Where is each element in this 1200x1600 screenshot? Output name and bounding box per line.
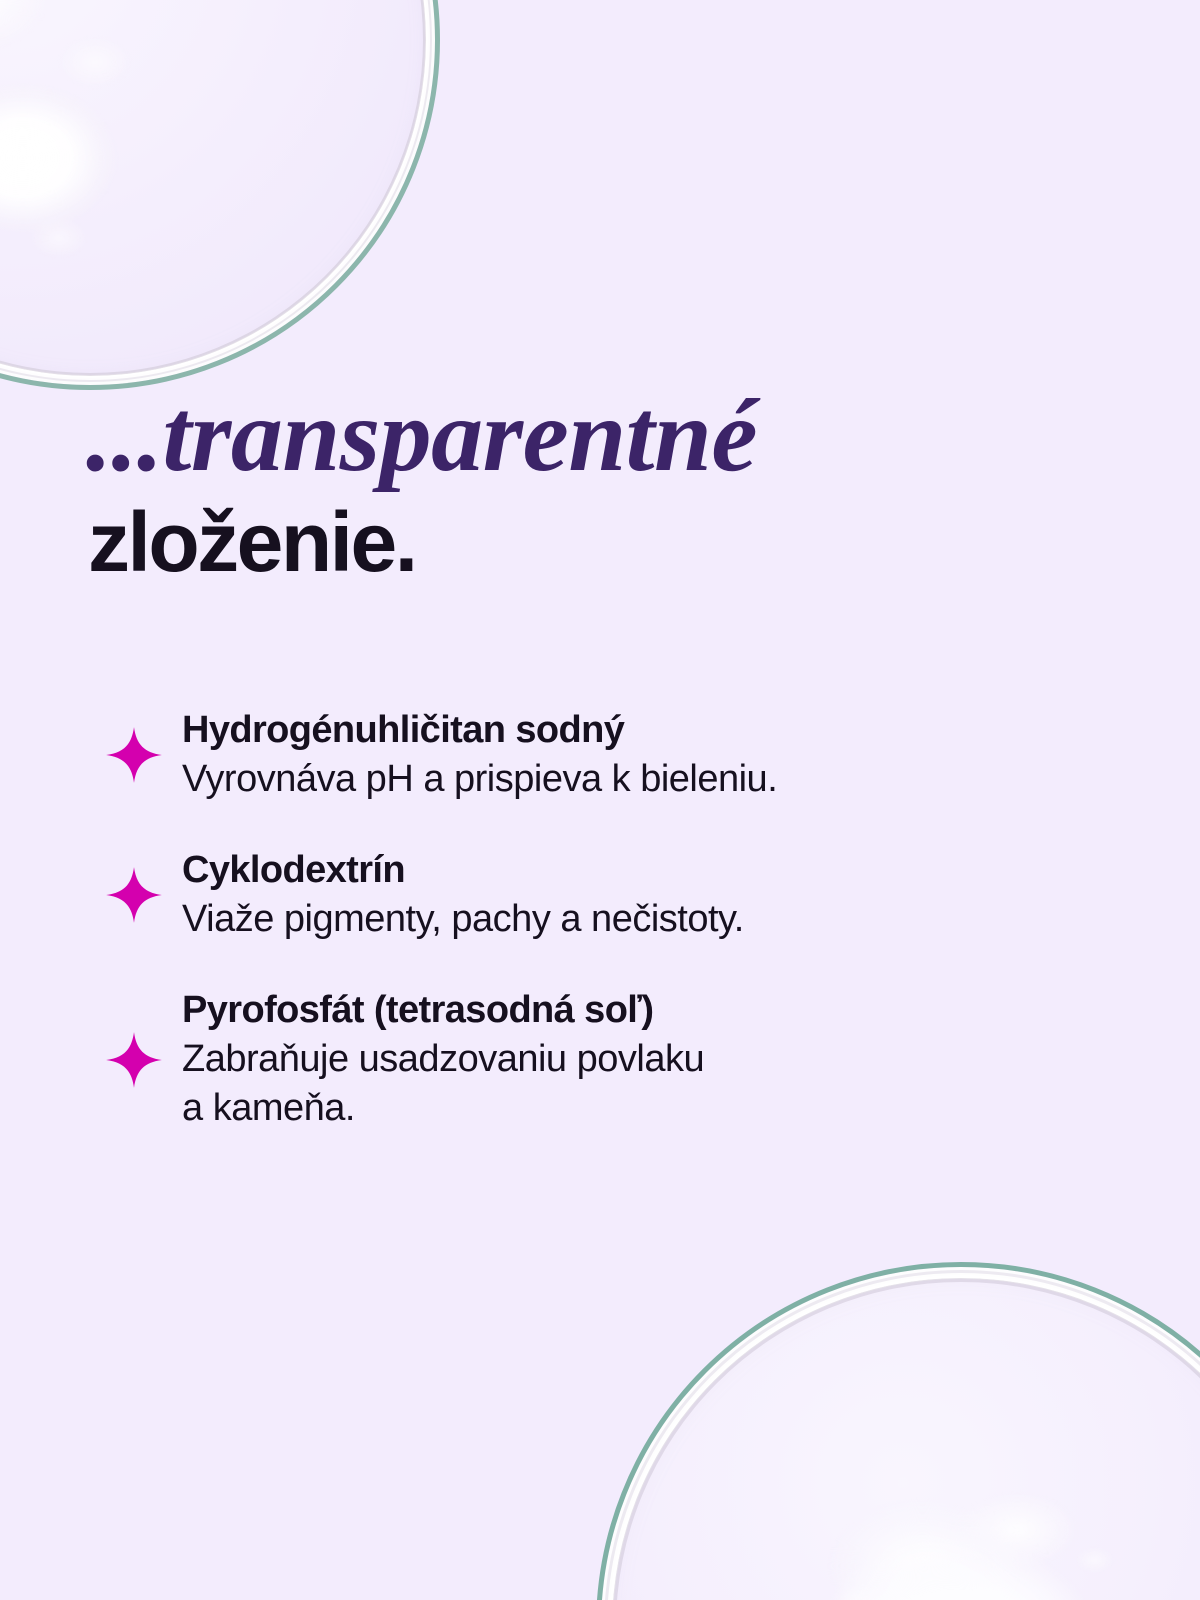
list-item-text: Pyrofosfát (tetrasodná soľ) Zabraňuje us… <box>182 986 1086 1133</box>
list-item: Cyklodextrín Viaže pigmenty, pachy a neč… <box>86 846 1086 944</box>
list-item-text: Hydrogénuhličitan sodný Vyrovnáva pH a p… <box>182 706 1086 804</box>
ingredient-description: Vyrovnáva pH a prispieva k bieleniu. <box>182 755 1086 804</box>
white-powder-top-left <box>0 0 210 310</box>
sparkle-star-icon <box>86 866 182 924</box>
petri-dish-top-left <box>0 0 440 390</box>
ingredient-poster: ...transparentné zloženie. Hydrogénuhlič… <box>0 0 1200 1600</box>
ingredient-title: Hydrogénuhličitan sodný <box>182 706 1086 755</box>
list-item: Hydrogénuhličitan sodný Vyrovnáva pH a p… <box>86 706 1086 804</box>
ingredient-list: Hydrogénuhličitan sodný Vyrovnáva pH a p… <box>86 706 1086 1133</box>
ingredient-description: Viaže pigmenty, pachy a nečistoty. <box>182 895 1086 944</box>
list-item-text: Cyklodextrín Viaže pigmenty, pachy a neč… <box>182 846 1086 944</box>
ingredient-description: Zabraňuje usadzovaniu povlaku a kameňa. <box>182 1035 1086 1134</box>
ingredient-title: Cyklodextrín <box>182 846 1086 895</box>
sparkle-star-icon <box>86 1031 182 1089</box>
headline-bold-line: zloženie. <box>88 500 1086 584</box>
ingredient-title: Pyrofosfát (tetrasodná soľ) <box>182 986 1086 1035</box>
white-powder-bottom-right <box>742 1380 1172 1600</box>
page-title: ...transparentné zloženie. <box>86 384 1086 584</box>
petri-dish-bottom-right <box>596 1262 1200 1600</box>
list-item: Pyrofosfát (tetrasodná soľ) Zabraňuje us… <box>86 986 1086 1133</box>
headline-script-line: ...transparentné <box>86 384 1086 488</box>
sparkle-star-icon <box>86 726 182 784</box>
